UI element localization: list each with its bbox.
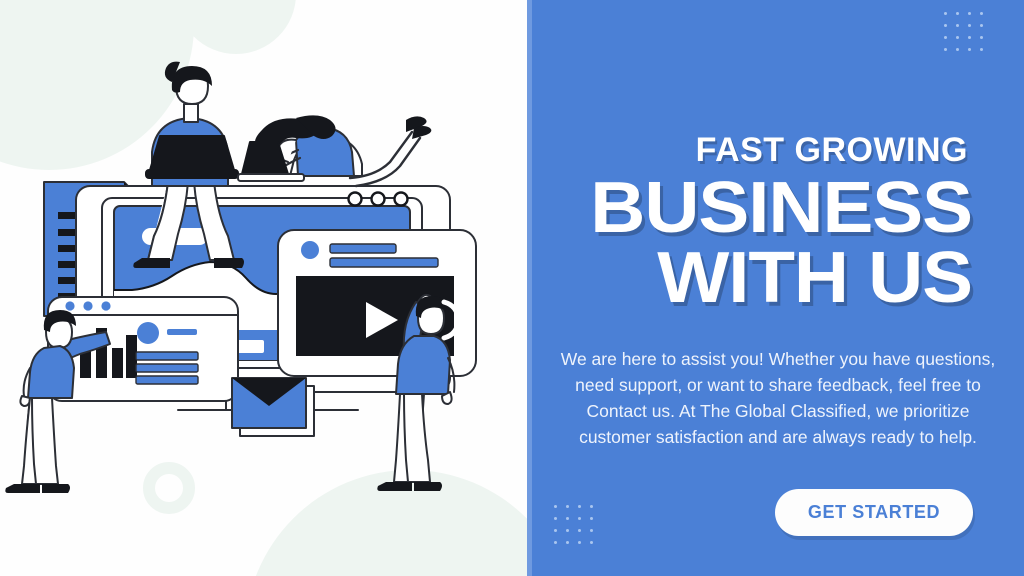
illustration-panel xyxy=(0,0,532,576)
browser-window-dots xyxy=(349,193,408,206)
get-started-button[interactable]: GET STARTED xyxy=(775,489,973,536)
promo-banner: FAST GROWING BUSINESS WITH US We are her… xyxy=(0,0,1024,576)
business-teamwork-illustration xyxy=(0,0,532,576)
eyebrow-text: FAST GROWING xyxy=(532,131,968,170)
headline-line-1: BUSINESS xyxy=(506,174,972,244)
person-lying-with-laptop xyxy=(238,115,431,186)
page-title: BUSINESS WITH US xyxy=(506,174,972,314)
dot-grid-top-right xyxy=(944,12,992,60)
envelope-icon xyxy=(232,378,314,436)
content-panel: FAST GROWING BUSINESS WITH US We are her… xyxy=(532,0,1024,576)
body-paragraph: We are here to assist you! Whether you h… xyxy=(560,346,996,450)
headline-line-2: WITH US xyxy=(506,244,972,314)
dot-grid-bottom-left xyxy=(554,505,602,553)
